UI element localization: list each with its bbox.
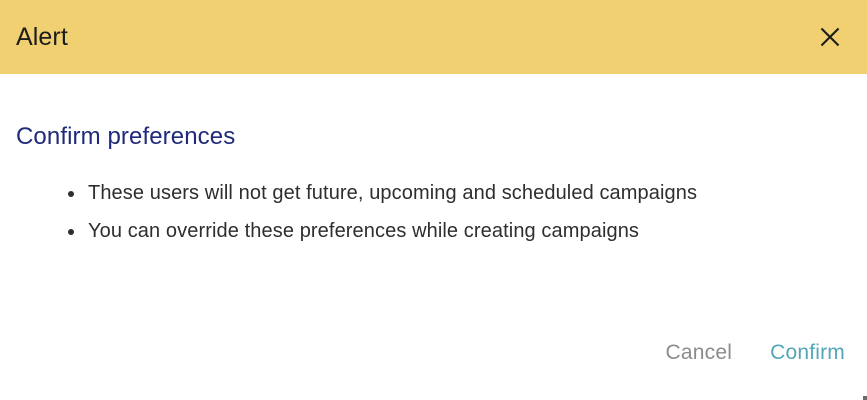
cancel-button[interactable]: Cancel: [666, 342, 733, 363]
dialog-body: Confirm preferences These users will not…: [0, 74, 867, 400]
dialog-title: Alert: [16, 25, 68, 50]
dialog-footer: Cancel Confirm: [666, 342, 846, 400]
resize-handle[interactable]: [863, 396, 867, 400]
dialog-header: Alert: [0, 0, 867, 74]
alert-dialog: Alert Confirm preferences These users wi…: [0, 0, 867, 400]
close-button[interactable]: [815, 22, 845, 52]
list-item: These users will not get future, upcomin…: [16, 174, 851, 212]
close-icon: [819, 26, 841, 48]
list-item: You can override these preferences while…: [16, 212, 851, 250]
confirm-button[interactable]: Confirm: [770, 342, 845, 363]
page-title: Confirm preferences: [16, 74, 851, 149]
preferences-bullet-list: These users will not get future, upcomin…: [16, 174, 851, 250]
